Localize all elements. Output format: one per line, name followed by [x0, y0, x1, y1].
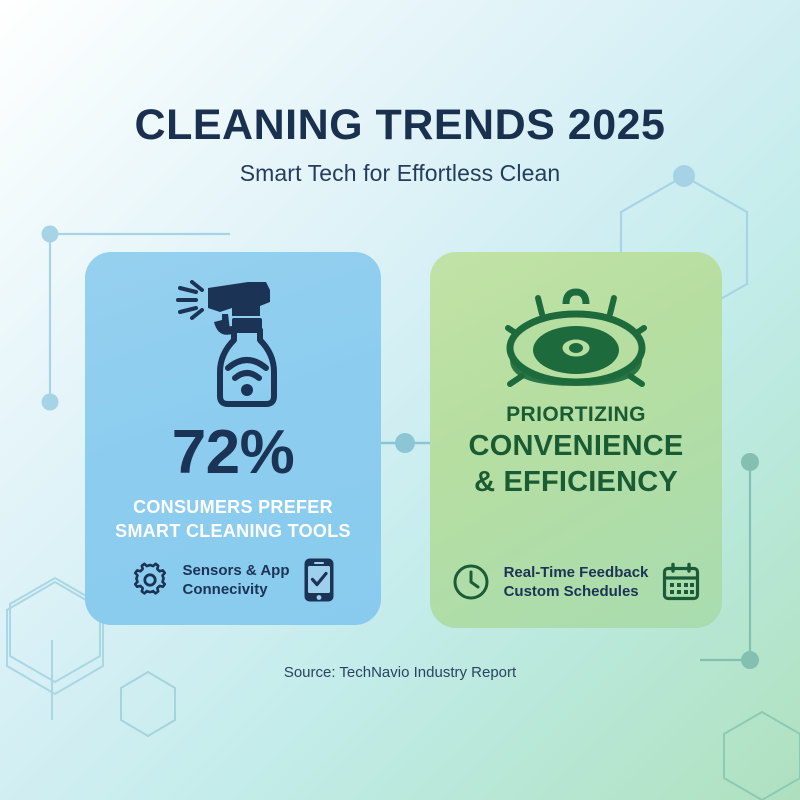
calendar-day-dots	[670, 583, 694, 594]
circuit-node-top-left	[42, 226, 59, 243]
robot-vacuum-icon	[430, 274, 722, 398]
circuit-node-top-right	[741, 453, 759, 471]
blue-feature-line-2: Connecivity	[183, 580, 290, 600]
stat-caption: CONSUMERS PREFER SMART CLEANING TOOLS	[85, 496, 381, 544]
card-connector-node	[395, 433, 415, 453]
card-smart-cleaning-tools[interactable]: 72% CONSUMERS PREFER SMART CLEANING TOOL…	[85, 252, 381, 625]
stat-caption-line-1: CONSUMERS PREFER	[85, 496, 381, 520]
hexagon-bottom-left-medium	[121, 672, 175, 736]
blue-feature-row: Sensors & App Connecivity	[85, 557, 381, 603]
smartphone-check-icon	[303, 557, 335, 603]
source-note: Source: TechNavio Industry Report	[0, 664, 800, 681]
page-title: CLEANING TRENDS 2025	[0, 104, 800, 148]
spray-bottle-wifi-glyph	[170, 268, 296, 408]
green-headline: PRIORTIZING CONVENIENCE & EFFICIENCY	[430, 402, 722, 500]
hexagon-bottom-right	[724, 712, 800, 800]
wifi-dot	[241, 384, 253, 396]
card-convenience-efficiency[interactable]: PRIORTIZING CONVENIENCE & EFFICIENCY Rea…	[430, 252, 722, 628]
stat-block: 72% CONSUMERS PREFER SMART CLEANING TOOL…	[85, 422, 381, 544]
stat-number: 72%	[85, 422, 381, 484]
page-subtitle: Smart Tech for Effortless Clean	[0, 160, 800, 187]
stat-caption-line-2: SMART CLEANING TOOLS	[85, 520, 381, 544]
infographic-canvas: CLEANING TRENDS 2025 Smart Tech for Effo…	[0, 0, 800, 800]
clock-icon	[452, 563, 490, 601]
blue-feature-line-1: Sensors & App	[183, 561, 290, 581]
green-headline-line-2: & EFFICIENCY	[430, 465, 722, 499]
green-feature-row: Real-Time Feedback Custom Schedules	[430, 562, 722, 602]
wifi-glyph	[228, 360, 266, 378]
green-headline-small: PRIORTIZING	[430, 402, 722, 427]
circuit-node-mid-left	[42, 394, 59, 411]
clock-hands	[471, 572, 478, 587]
blue-feature-text: Sensors & App Connecivity	[183, 561, 290, 600]
green-feature-line-1: Real-Time Feedback	[504, 563, 649, 583]
calendar-icon	[662, 562, 700, 602]
robot-vacuum-glyph	[494, 274, 658, 398]
header: CLEANING TRENDS 2025 Smart Tech for Effo…	[0, 104, 800, 187]
gear-icon	[131, 561, 169, 599]
spray-bottle-wifi-icon	[85, 268, 381, 408]
green-headline-line-1: CONVENIENCE	[430, 429, 722, 463]
green-feature-text: Real-Time Feedback Custom Schedules	[504, 563, 649, 602]
green-feature-line-2: Custom Schedules	[504, 582, 649, 602]
